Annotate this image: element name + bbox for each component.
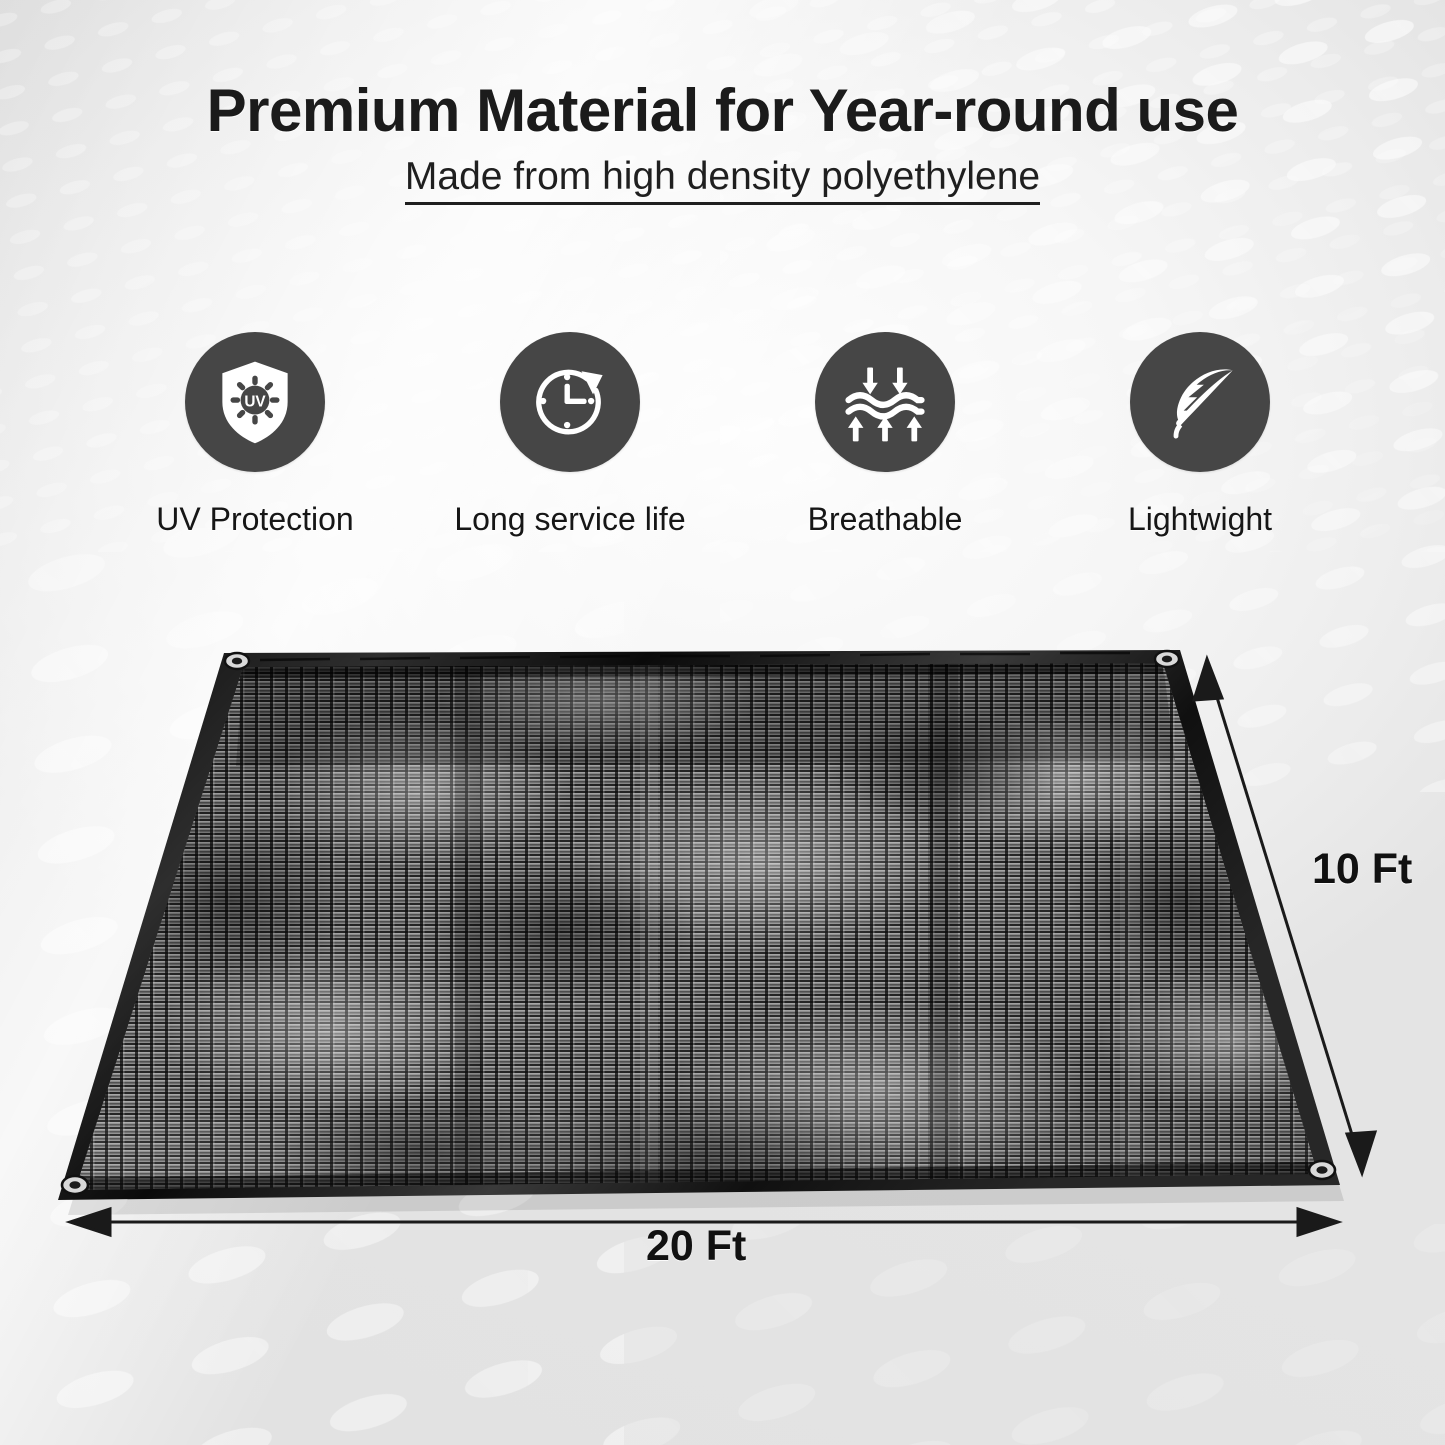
feature-breathable: Breathable [760,332,1010,538]
feature-lightwight: Lightwight [1075,332,1325,538]
page-title: Premium Material for Year-round use [0,76,1445,145]
dimension-label-width: 20 Ft [646,1222,746,1271]
feature-label-lightwight: Lightwight [1128,501,1272,538]
lightwight-badge [1130,332,1270,472]
dimension-label-height: 10 Ft [1312,845,1412,894]
page-subtitle: Made from high density polyethylene [0,155,1445,199]
breathable-airflow-icon [837,354,933,450]
breathable-badge [815,332,955,472]
svg-text:UV: UV [244,393,266,410]
feather-icon [1152,354,1248,450]
long-service-life-badge [500,332,640,472]
feature-long-service-life: Long service life [445,332,695,538]
uv-shield-icon: UV [207,354,303,450]
clock-refresh-icon [522,354,618,450]
feature-row: UV UV Protection [130,332,1325,538]
uv-protection-badge: UV [185,332,325,472]
feature-label-breathable: Breathable [808,501,963,538]
feature-uv-protection: UV UV Protection [130,332,380,538]
feature-label-uv-protection: UV Protection [156,501,353,538]
page-subtitle-text: Made from high density polyethylene [405,155,1040,205]
feature-label-long-service-life: Long service life [454,501,685,538]
